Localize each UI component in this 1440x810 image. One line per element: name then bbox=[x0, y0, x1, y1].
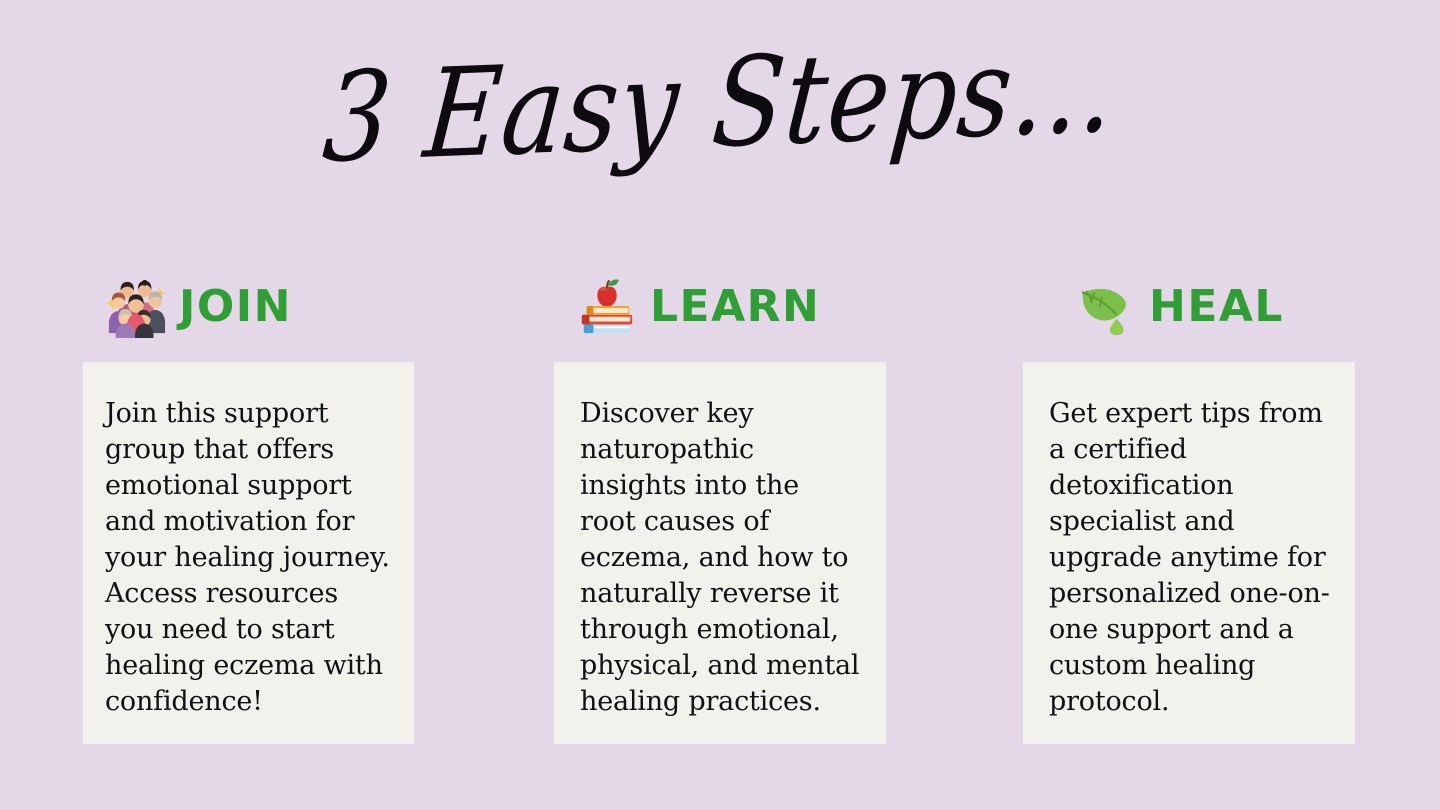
step-heading-join: JOIN bbox=[105, 268, 292, 346]
leaf-with-droplet-icon bbox=[1075, 276, 1137, 338]
step-card-learn: Discover key naturopathic insights into … bbox=[554, 362, 886, 744]
step-heading-learn: LEARN bbox=[576, 268, 820, 346]
step-card-heal: Get expert tips from a certified detoxif… bbox=[1023, 362, 1355, 744]
step-card-join: Join this support group that offers emot… bbox=[83, 362, 414, 744]
people-celebrating-icon bbox=[105, 276, 167, 338]
steps-columns: JOIN Join this support group that offers… bbox=[0, 0, 1440, 810]
slide-canvas: 3 Easy Steps... bbox=[0, 0, 1440, 810]
step-column-learn: LEARN Discover key naturopathic insights… bbox=[554, 0, 886, 810]
step-body-join: Join this support group that offers emot… bbox=[105, 396, 390, 720]
step-label-heal: HEAL bbox=[1149, 285, 1284, 329]
step-body-heal: Get expert tips from a certified detoxif… bbox=[1049, 396, 1341, 720]
step-label-join: JOIN bbox=[179, 285, 292, 329]
step-column-join: JOIN Join this support group that offers… bbox=[83, 0, 414, 810]
step-column-heal: HEAL Get expert tips from a certified de… bbox=[1023, 0, 1355, 810]
step-label-learn: LEARN bbox=[650, 285, 820, 329]
step-heading-heal: HEAL bbox=[1075, 268, 1284, 346]
step-body-learn: Discover key naturopathic insights into … bbox=[580, 396, 862, 720]
apple-on-books-icon bbox=[576, 276, 638, 338]
